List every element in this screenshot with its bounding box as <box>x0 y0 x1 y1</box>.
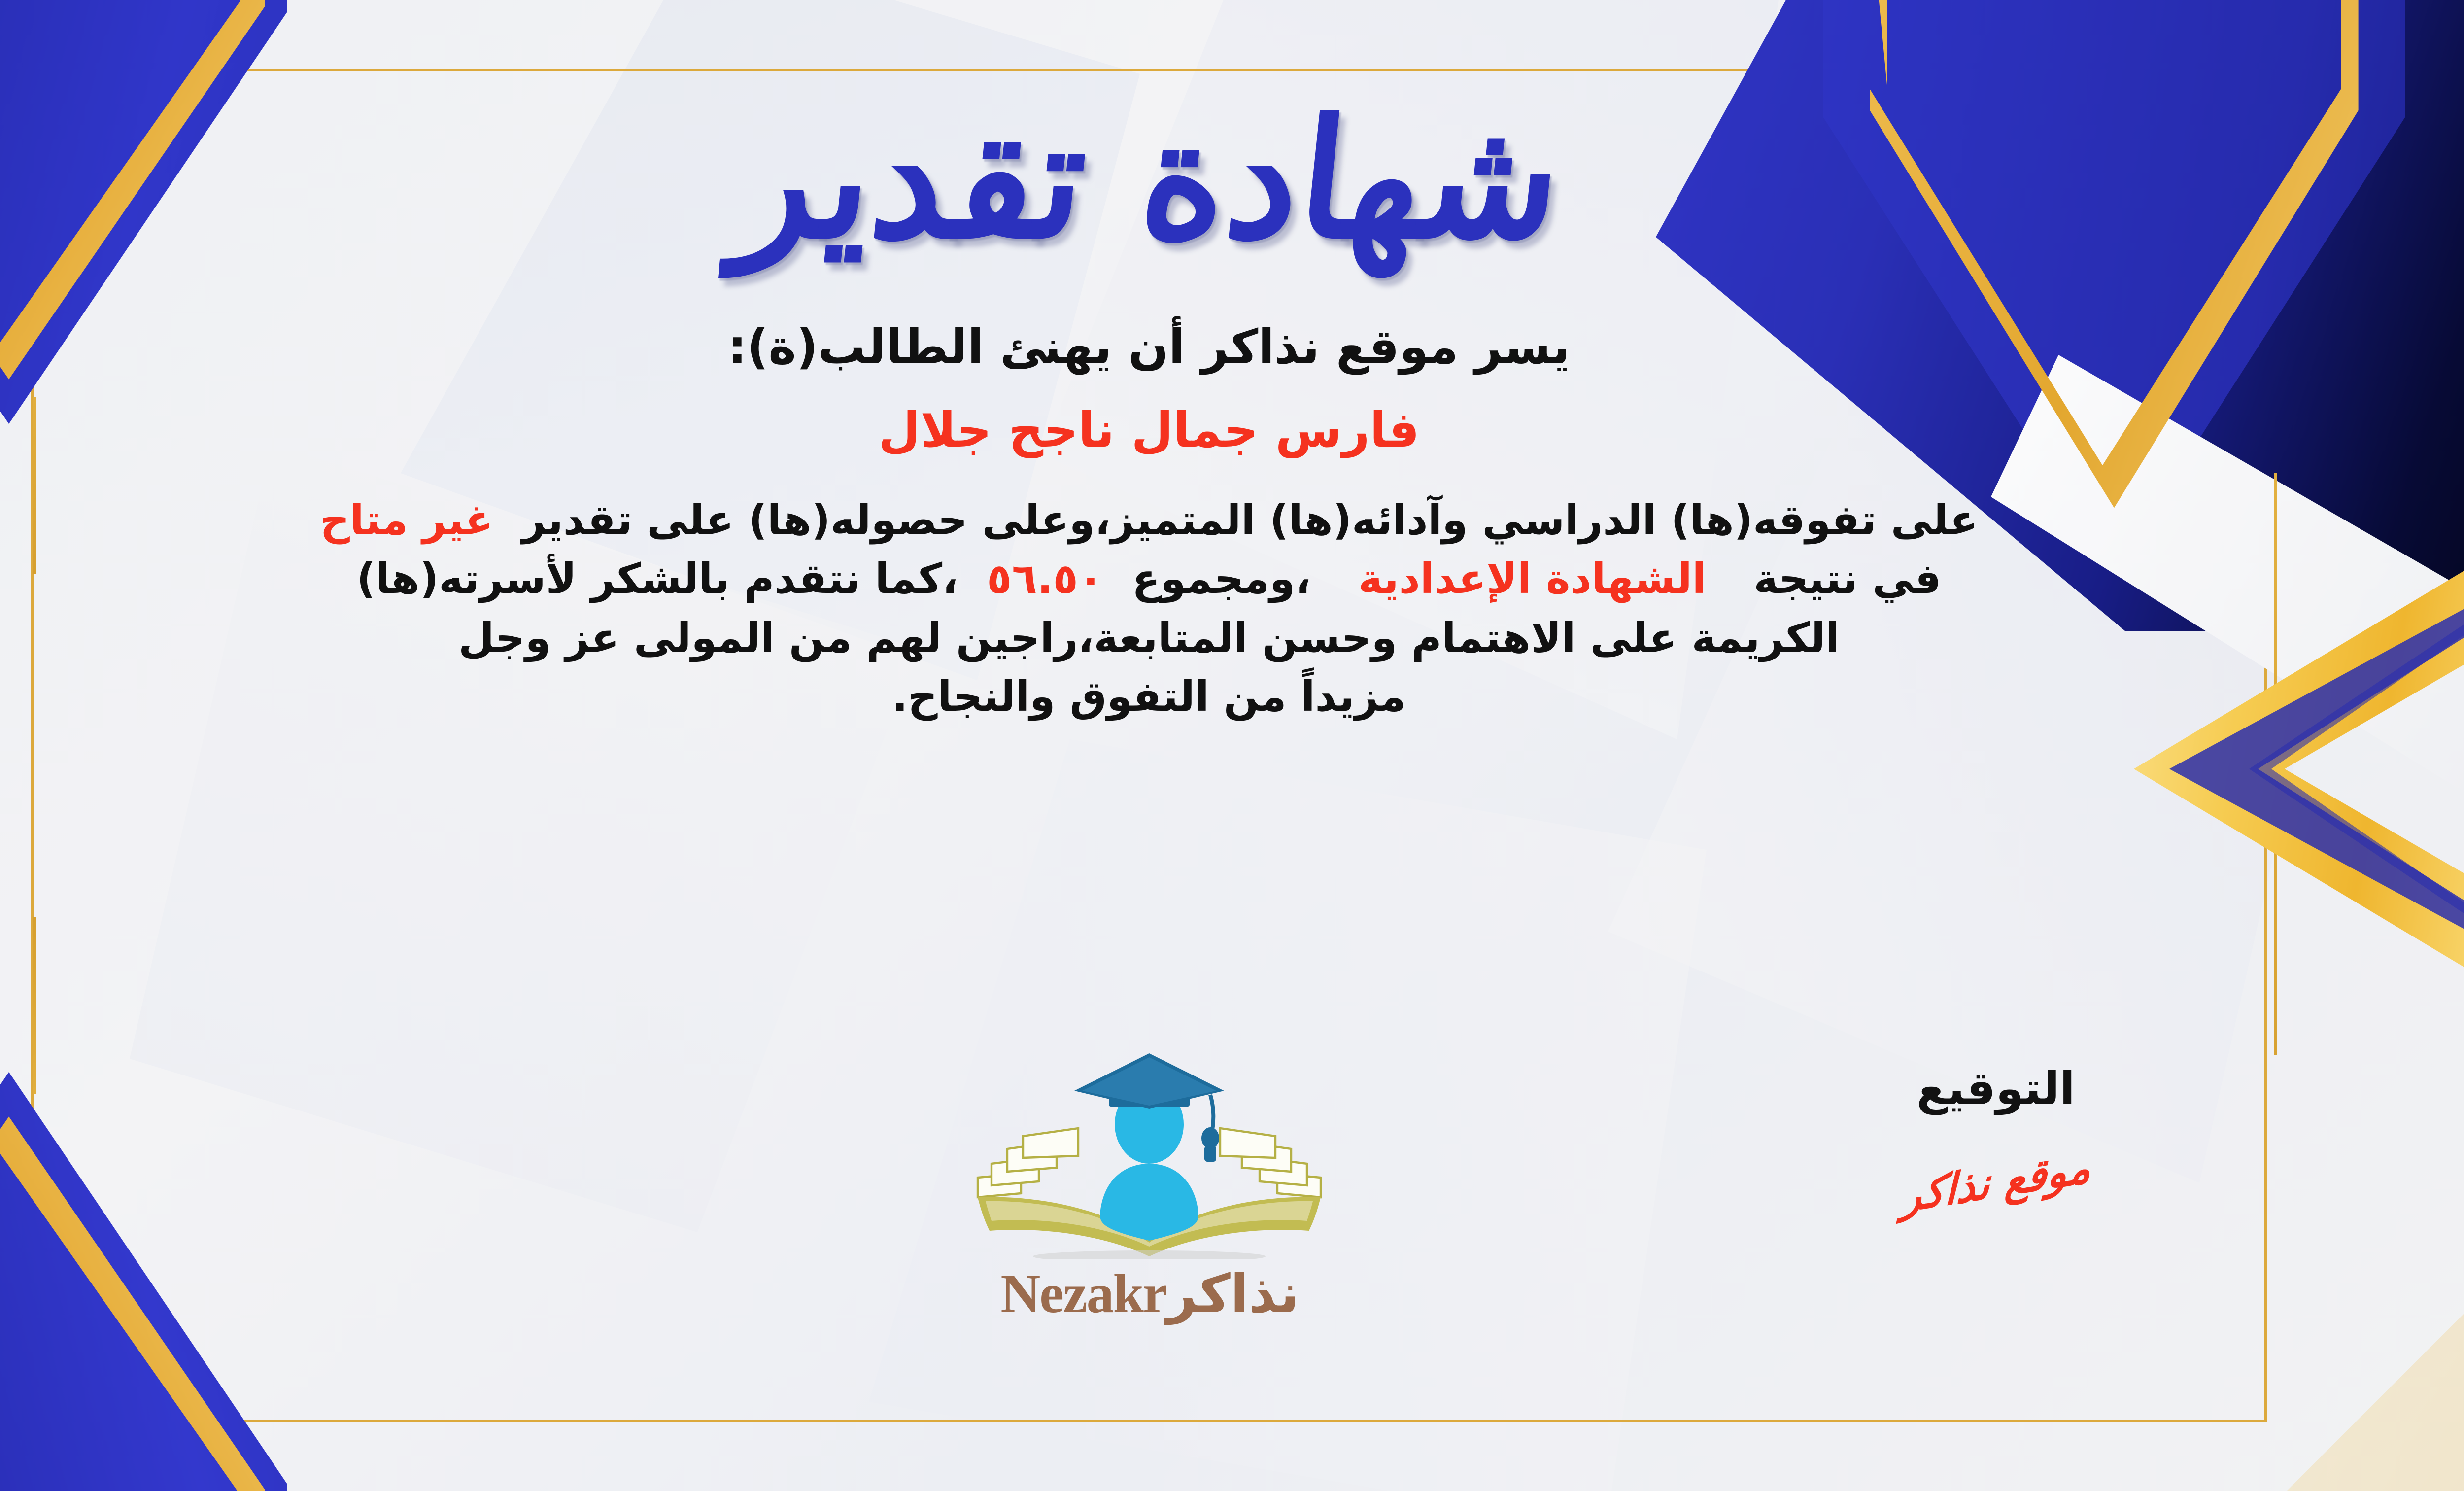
brand-logo: Nezakrنذاكر <box>962 1047 1336 1326</box>
signature-label: التوقيع <box>1843 1062 2149 1115</box>
signature-mark: موقع نذاكر <box>1901 1142 2091 1222</box>
certificate-footer: التوقيع موقع نذاكر <box>90 1057 2208 1373</box>
body-line-3: الكريمة على الاهتمام وحسن المتابعة،راجين… <box>90 609 2208 667</box>
brand-name-arabic: نذاكر <box>1166 1263 1300 1325</box>
body-line-2-suffix: ،كما نتقدم بالشكر لأسرته(ها) <box>357 555 958 603</box>
body-line-2-prefix: في نتيجة <box>1753 555 1941 603</box>
body-line-2-mid: ،ومجموع <box>1132 555 1311 603</box>
grade-value: غير متاح <box>320 496 493 544</box>
brand-logo-text: Nezakrنذاكر <box>962 1262 1336 1326</box>
total-score: ٥٦.٥٠ <box>987 555 1103 603</box>
greeting-line: يسر موقع نذاكر أن يهنئ الطالب(ة): <box>728 319 1570 375</box>
body-line-2: في نتيجةالشهادة الإعدادية،ومجموع٥٦.٥٠،كم… <box>90 550 2208 608</box>
certificate-canvas: شهادة تقدير يسر موقع نذاكر أن يهنئ الطال… <box>0 0 2464 1491</box>
signature-block: التوقيع موقع نذاكر <box>1843 1062 2149 1207</box>
certificate-content: شهادة تقدير يسر موقع نذاكر أن يهنئ الطال… <box>90 74 2208 1417</box>
body-line-1-text: على تفوقه(ها) الدراسي وآدائه(ها) المتميز… <box>522 496 1978 544</box>
exam-name: الشهادة الإعدادية <box>1358 555 1706 603</box>
certificate-title: شهادة تقدير <box>729 98 1569 260</box>
brand-name-latin: Nezakr <box>1000 1263 1166 1324</box>
body-line-1: على تفوقه(ها) الدراسي وآدائه(ها) المتميز… <box>90 491 2208 550</box>
graduate-book-logo-icon <box>962 1047 1336 1259</box>
body-line-4: مزيداً من التفوق والنجاح. <box>90 667 2208 726</box>
certificate-body: على تفوقه(ها) الدراسي وآدائه(ها) المتميز… <box>90 491 2208 726</box>
student-name: فارس جمال ناجح جلال <box>878 402 1419 458</box>
